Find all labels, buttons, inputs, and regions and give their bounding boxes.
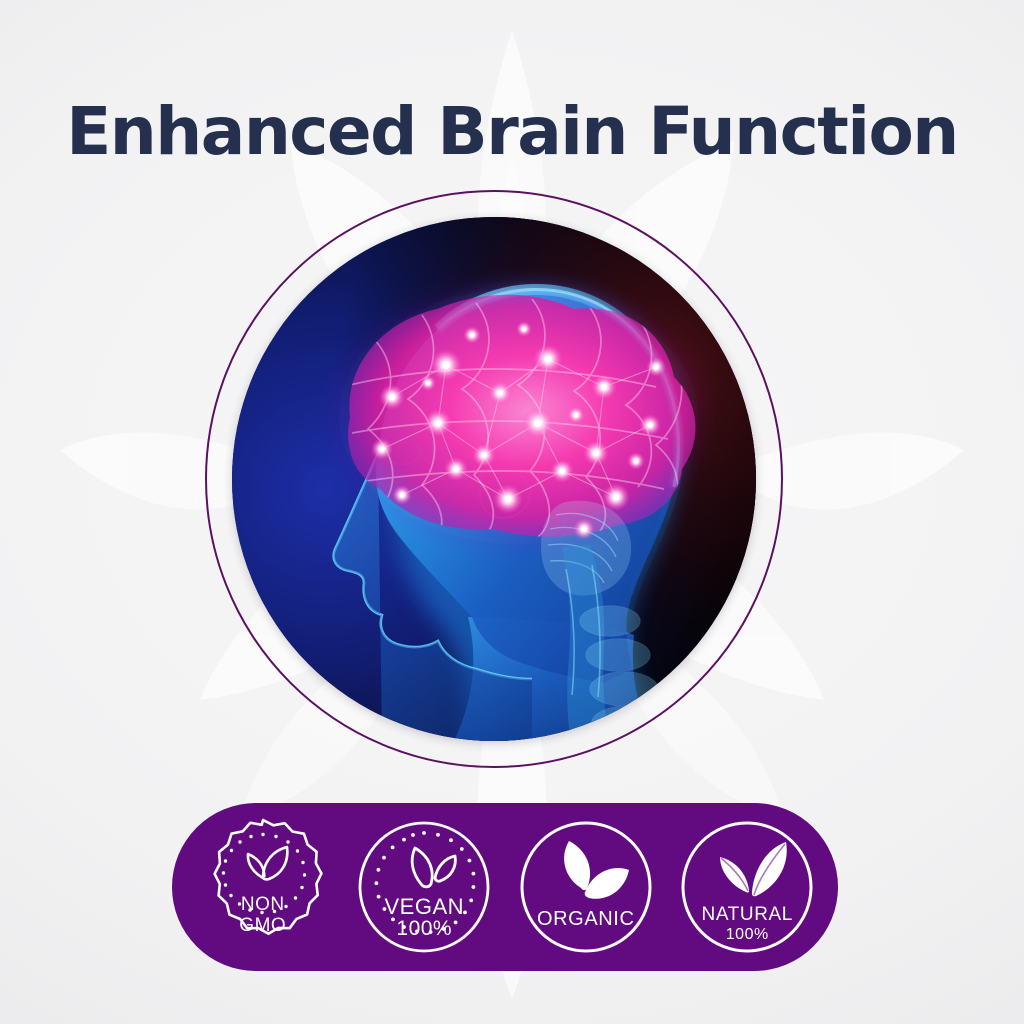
hero-image-container [205, 190, 783, 768]
page-title: Enhanced Brain Function [0, 96, 1024, 167]
two-leaves-solid-v-icon [720, 842, 787, 896]
brain-xray-illustration [232, 217, 756, 741]
badge-natural[interactable]: NATURAL 100% [676, 816, 818, 958]
badge-vegan[interactable]: VEGAN 100% [353, 816, 495, 958]
badge-non-gmo[interactable]: NON GMO [192, 816, 334, 958]
natural-circle-frame [676, 816, 818, 958]
badge-organic[interactable]: ORGANIC [515, 816, 657, 958]
poster-canvas: Enhanced Brain Function [0, 0, 1024, 1024]
organic-circle-frame [515, 816, 657, 958]
certification-badge-bar: NON GMO [172, 803, 838, 971]
two-leaves-solid-icon [564, 841, 629, 899]
vegan-dotted-circle-frame [353, 816, 495, 958]
non-gmo-scalloped-frame [192, 816, 334, 958]
